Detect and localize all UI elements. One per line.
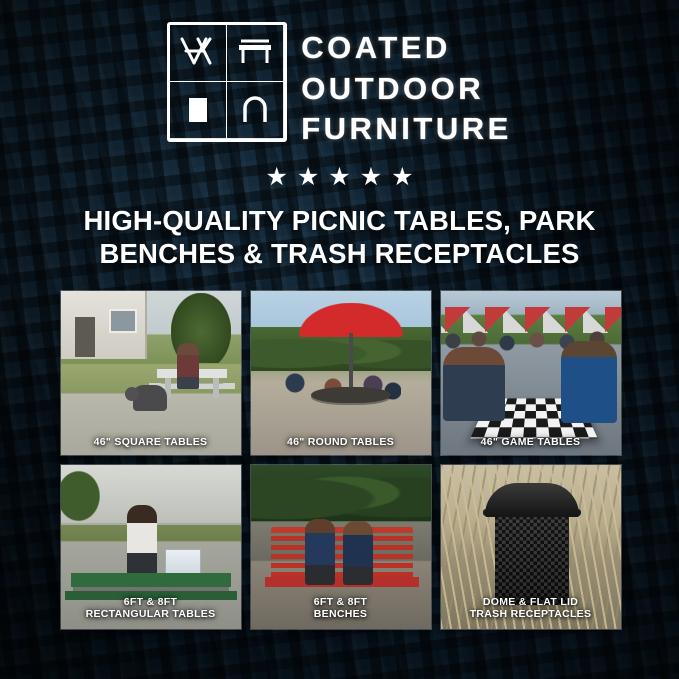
star-icon-2: ★ (297, 165, 319, 190)
star-icon-1: ★ (265, 165, 287, 190)
picnic-table-logo-icon (167, 22, 287, 142)
brand-logo: COATED OUTDOOR FURNITURE (167, 22, 512, 149)
product-tile-rectangular-tables[interactable]: 6FT & 8FT RECTANGULAR TABLES (60, 464, 242, 630)
headline-line-1: HIGH-QUALITY PICNIC TABLES, PARK (83, 205, 595, 236)
product-caption-round-tables: 46" ROUND TABLES (251, 431, 431, 455)
product-caption-square-tables: 46" SQUARE TABLES (61, 431, 241, 455)
product-caption-rectangular-tables-line-1: 6FT & 8FT (65, 596, 237, 608)
product-caption-trash-receptacles-line-1: DOME & FLAT LID (445, 596, 617, 608)
rating-stars: ★ ★ ★ ★ ★ (265, 165, 413, 190)
star-icon-4: ★ (360, 165, 382, 190)
product-caption-benches: 6FT & 8FT BENCHES (251, 591, 431, 627)
product-caption-rectangular-tables-line-2: RECTANGULAR TABLES (65, 608, 237, 620)
headline-line-2: BENCHES & TRASH RECEPTACLES (30, 237, 650, 270)
product-tile-trash-receptacles[interactable]: DOME & FLAT LID TRASH RECEPTACLES (440, 464, 622, 630)
star-icon-3: ★ (328, 165, 350, 190)
product-caption-benches-line-2: BENCHES (255, 608, 427, 620)
star-icon-5: ★ (391, 165, 413, 190)
product-caption-game-tables: 46" GAME TABLES (441, 431, 621, 455)
headline: HIGH-QUALITY PICNIC TABLES, PARK BENCHES… (30, 204, 650, 270)
product-caption-benches-line-1: 6FT & 8FT (255, 596, 427, 608)
product-banner: COATED OUTDOOR FURNITURE ★ ★ ★ ★ ★ HIGH-… (0, 0, 679, 679)
product-tile-round-tables[interactable]: 46" ROUND TABLES (250, 290, 432, 456)
logo-cell-trash-can-icon (169, 81, 227, 139)
banner-content: COATED OUTDOOR FURNITURE ★ ★ ★ ★ ★ HIGH-… (0, 0, 679, 679)
brand-wordmark: COATED OUTDOOR FURNITURE (301, 22, 512, 149)
brand-line-2: OUTDOOR (301, 69, 512, 109)
brand-line-3: FURNITURE (301, 109, 512, 149)
product-tile-square-tables[interactable]: 46" SQUARE TABLES (60, 290, 242, 456)
logo-cell-picnic-table-icon (169, 24, 227, 82)
logo-cell-bench-icon (226, 24, 284, 82)
product-tile-game-tables[interactable]: 46" GAME TABLES (440, 290, 622, 456)
product-caption-rectangular-tables: 6FT & 8FT RECTANGULAR TABLES (61, 591, 241, 627)
logo-cell-dome-lid-icon (226, 81, 284, 139)
brand-line-1: COATED (301, 28, 512, 68)
product-tile-benches[interactable]: 6FT & 8FT BENCHES (250, 464, 432, 630)
product-grid: 46" SQUARE TABLES 46" ROUND TABLES 46" G… (50, 290, 630, 628)
product-caption-trash-receptacles-line-2: TRASH RECEPTACLES (445, 608, 617, 620)
product-caption-trash-receptacles: DOME & FLAT LID TRASH RECEPTACLES (441, 591, 621, 627)
